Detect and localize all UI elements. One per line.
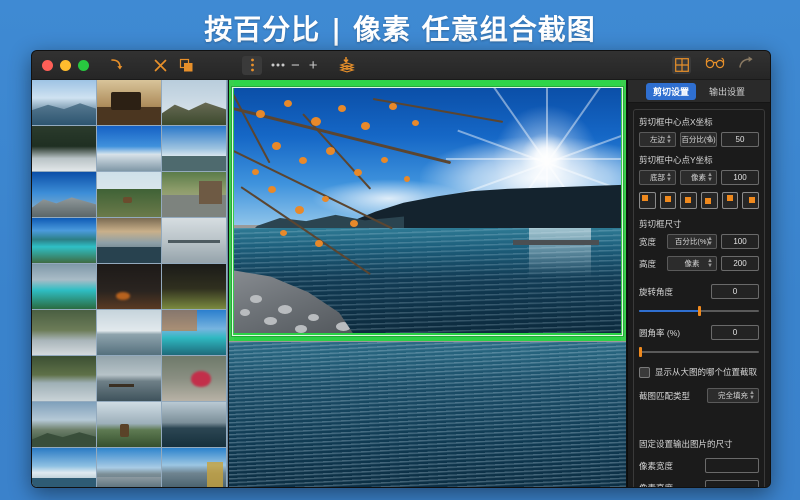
thumbnail-sidebar[interactable] bbox=[32, 80, 229, 488]
anchor-top-left[interactable] bbox=[639, 192, 656, 209]
center-y-label: 剪切框中心点Y坐标 bbox=[639, 154, 759, 166]
match-type-row: 截图匹配类型 完全填充 ▲▼ bbox=[639, 388, 759, 403]
corner-radius-input[interactable]: 0 bbox=[711, 325, 759, 340]
frame-width-unit-value: 百分比(%) bbox=[675, 236, 709, 247]
list-item[interactable] bbox=[97, 264, 162, 310]
corner-radius-slider[interactable] bbox=[639, 347, 759, 357]
center-x-origin-value: 左边 bbox=[650, 134, 665, 145]
crop-settings-card: 剪切框中心点X坐标 左边 ▲▼ 百分比(%) ▲▼ 50 bbox=[633, 109, 765, 488]
anchor-bottom-left[interactable] bbox=[701, 192, 718, 209]
app-body: 剪切设置 输出设置 剪切框中心点X坐标 左边 ▲▼ 百分 bbox=[32, 80, 770, 488]
pixel-height-label: 像素高度 bbox=[639, 482, 701, 489]
list-item[interactable] bbox=[97, 356, 162, 402]
tab-crop-settings[interactable]: 剪切设置 bbox=[646, 83, 696, 100]
rotation-slider-thumb[interactable] bbox=[698, 306, 701, 316]
chevron-updown-icon: ▲▼ bbox=[707, 173, 713, 183]
uncropped-photo-area bbox=[229, 342, 626, 488]
anchor-top-right[interactable] bbox=[722, 192, 739, 209]
cropped-photo-preview bbox=[233, 88, 622, 333]
chevron-updown-icon: ▲▼ bbox=[666, 135, 672, 145]
frame-height-input[interactable]: 200 bbox=[721, 256, 759, 271]
center-x-label: 剪切框中心点X坐标 bbox=[639, 116, 759, 128]
inspector-tabbar: 剪切设置 输出设置 bbox=[628, 80, 770, 103]
anchor-middle-right[interactable] bbox=[742, 192, 759, 209]
corner-radius-row: 圆角率 (%) 0 bbox=[639, 325, 759, 340]
frame-width-row: 宽度 百分比(%) ▲▼ 100 bbox=[639, 234, 759, 249]
list-item[interactable] bbox=[32, 218, 97, 264]
center-x-unit-select[interactable]: 百分比(%) ▲▼ bbox=[680, 132, 717, 147]
app-window: − + bbox=[31, 50, 771, 488]
frame-width-label: 宽度 bbox=[639, 236, 663, 248]
match-type-value: 完全填充 bbox=[718, 390, 748, 401]
rotation-slider[interactable] bbox=[639, 306, 759, 316]
glasses-preview-icon[interactable] bbox=[705, 56, 725, 74]
list-item[interactable] bbox=[32, 172, 97, 218]
close-x-icon[interactable] bbox=[147, 54, 173, 76]
chevron-updown-icon: ▲▼ bbox=[707, 237, 713, 247]
traffic-lights bbox=[42, 60, 89, 71]
chevron-updown-icon: ▲▼ bbox=[749, 391, 755, 401]
toolbar-right-group bbox=[672, 56, 756, 74]
crop-frame-edge-right[interactable] bbox=[621, 80, 626, 341]
frame-width-unit-select[interactable]: 百分比(%) ▲▼ bbox=[667, 234, 717, 249]
rotation-row: 旋转角度 0 bbox=[639, 284, 759, 299]
list-item[interactable] bbox=[32, 264, 97, 310]
rotation-slider-fill bbox=[639, 310, 699, 312]
show-source-position-checkbox[interactable] bbox=[639, 367, 650, 378]
list-item[interactable] bbox=[162, 310, 227, 356]
share-icon[interactable] bbox=[739, 56, 756, 74]
list-item[interactable] bbox=[97, 172, 162, 218]
crop-frame-edge-left[interactable] bbox=[229, 80, 234, 341]
frame-height-unit-value: 像素 bbox=[685, 258, 700, 269]
minimize-window-button[interactable] bbox=[60, 60, 71, 71]
corner-radius-slider-thumb[interactable] bbox=[639, 347, 642, 357]
frame-height-row: 高度 像素 ▲▼ 200 bbox=[639, 256, 759, 271]
corner-radius-label: 圆角率 (%) bbox=[639, 327, 707, 339]
crop-frame-edge-bottom[interactable] bbox=[229, 333, 626, 341]
list-item[interactable] bbox=[32, 80, 97, 126]
image-canvas[interactable] bbox=[229, 80, 627, 488]
chevron-updown-icon: ▲▼ bbox=[707, 259, 713, 269]
maximize-window-button[interactable] bbox=[78, 60, 89, 71]
crop-frame-edge-top[interactable] bbox=[229, 80, 626, 88]
list-item[interactable] bbox=[32, 126, 97, 172]
pixel-width-row: 像素宽度 bbox=[639, 458, 759, 473]
pixel-width-label: 像素宽度 bbox=[639, 460, 701, 472]
window-titlebar: − + bbox=[32, 51, 770, 80]
zoom-in-icon[interactable]: + bbox=[309, 57, 318, 74]
anchor-preset-group bbox=[639, 192, 759, 209]
list-menu-button[interactable] bbox=[242, 56, 262, 75]
zoom-out-icon[interactable]: − bbox=[291, 57, 300, 74]
list-item[interactable] bbox=[162, 402, 227, 448]
center-x-row: 左边 ▲▼ 百分比(%) ▲▼ 50 bbox=[639, 132, 759, 147]
list-item[interactable] bbox=[97, 402, 162, 448]
duplicate-icon[interactable] bbox=[173, 54, 199, 76]
promo-headline: 按百分比 | 像素 任意组合截图 bbox=[0, 8, 800, 48]
close-window-button[interactable] bbox=[42, 60, 53, 71]
center-y-input[interactable]: 100 bbox=[721, 170, 759, 185]
desktop-background: 按百分比 | 像素 任意组合截图 bbox=[0, 0, 800, 500]
rotation-input[interactable]: 0 bbox=[711, 284, 759, 299]
list-item[interactable] bbox=[97, 448, 162, 488]
list-item[interactable] bbox=[97, 126, 162, 172]
list-item[interactable] bbox=[162, 80, 227, 126]
match-type-label: 截图匹配类型 bbox=[639, 390, 703, 402]
inspector-content: 剪切框中心点X坐标 左边 ▲▼ 百分比(%) ▲▼ 50 bbox=[628, 103, 770, 488]
show-source-position-row[interactable]: 显示从大图的哪个位置截取 bbox=[639, 366, 759, 378]
center-y-unit-value: 像素 bbox=[691, 172, 706, 183]
chevron-updown-icon: ▲▼ bbox=[707, 135, 713, 145]
list-item[interactable] bbox=[162, 126, 227, 172]
list-item[interactable] bbox=[32, 356, 97, 402]
center-x-input[interactable]: 50 bbox=[721, 132, 759, 147]
list-item[interactable] bbox=[32, 448, 97, 488]
frame-size-label: 剪切框尺寸 bbox=[639, 218, 759, 230]
list-item[interactable] bbox=[97, 310, 162, 356]
inspector-panel: 剪切设置 输出设置 剪切框中心点X坐标 左边 ▲▼ 百分 bbox=[627, 80, 770, 488]
corner-radius-slider-track bbox=[639, 351, 759, 353]
pixel-height-row: 像素高度 bbox=[639, 480, 759, 488]
list-item[interactable] bbox=[32, 310, 97, 356]
list-item[interactable] bbox=[162, 356, 227, 402]
grid-view-icon[interactable] bbox=[672, 56, 691, 74]
list-item[interactable] bbox=[162, 448, 227, 488]
pixel-width-input[interactable] bbox=[705, 458, 759, 473]
frame-height-unit-select[interactable]: 像素 ▲▼ bbox=[667, 256, 717, 271]
rotation-label: 旋转角度 bbox=[639, 286, 707, 298]
export-stack-icon[interactable] bbox=[334, 54, 360, 76]
anchor-top-center[interactable] bbox=[660, 192, 677, 209]
list-menu-icon[interactable] bbox=[239, 54, 265, 76]
show-source-position-label: 显示从大图的哪个位置截取 bbox=[655, 366, 757, 378]
frame-height-label: 高度 bbox=[639, 258, 663, 270]
center-y-unit-select[interactable]: 像素 ▲▼ bbox=[680, 170, 717, 185]
anchor-center[interactable] bbox=[680, 192, 697, 209]
tab-output-settings[interactable]: 输出设置 bbox=[702, 83, 752, 100]
frame-width-input[interactable]: 100 bbox=[721, 234, 759, 249]
list-item[interactable] bbox=[97, 80, 162, 126]
center-y-origin-select[interactable]: 底部 ▲▼ bbox=[639, 170, 676, 185]
center-x-origin-select[interactable]: 左边 ▲▼ bbox=[639, 132, 676, 147]
center-y-origin-value: 底部 bbox=[650, 172, 665, 183]
more-ellipsis-icon[interactable] bbox=[265, 54, 291, 76]
list-item[interactable] bbox=[162, 264, 227, 310]
list-item[interactable] bbox=[162, 218, 227, 264]
rotate-arrow-icon[interactable] bbox=[103, 54, 129, 76]
match-type-select[interactable]: 完全填充 ▲▼ bbox=[707, 388, 759, 403]
center-y-row: 底部 ▲▼ 像素 ▲▼ 100 bbox=[639, 170, 759, 185]
list-item[interactable] bbox=[162, 172, 227, 218]
list-item[interactable] bbox=[32, 402, 97, 448]
chevron-updown-icon: ▲▼ bbox=[666, 173, 672, 183]
list-item[interactable] bbox=[97, 218, 162, 264]
output-size-label: 固定设置输出图片的尺寸 bbox=[639, 438, 759, 450]
pixel-height-input[interactable] bbox=[705, 480, 759, 488]
